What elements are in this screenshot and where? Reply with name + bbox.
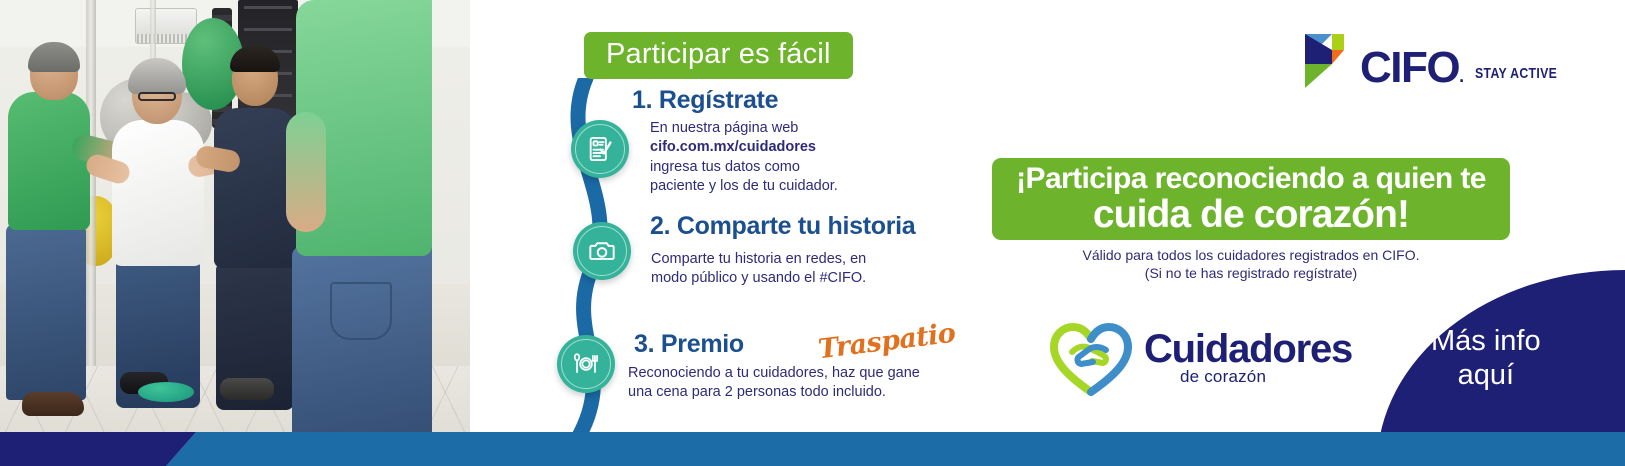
step-1-title-text: Regístrate <box>659 86 778 114</box>
traspatio-sponsor-logo: Traspatio <box>817 318 957 366</box>
step-2-body-line2: modo público y usando el #CIFO. <box>651 269 866 288</box>
cifo-pinwheel-icon <box>1292 30 1348 88</box>
patient-left-pants <box>6 224 86 400</box>
cifo-name: CIFO <box>1360 43 1459 92</box>
fineprint-line1: Válido para todos los cuidadores registr… <box>992 246 1510 264</box>
step-2-body: Comparte tu historia en redes, en modo p… <box>651 250 866 289</box>
step-3-title-text: Premio <box>661 330 744 358</box>
section-header-pill: Participar es fácil <box>584 32 853 79</box>
cifo-logo: CIFO. STAY ACTIVE <box>1292 30 1575 88</box>
cta-line2: aquí <box>1431 358 1541 392</box>
step-3-body-line2: una cena para 2 personas todo incluido. <box>628 383 920 402</box>
patient-center-hair <box>128 58 186 94</box>
step-2-body-line1: Comparte tu historia en redes, en <box>651 250 866 269</box>
form-check-icon <box>586 135 614 163</box>
photo-panel <box>0 0 470 466</box>
step-3-icon-circle <box>557 335 615 393</box>
step-1-icon-circle <box>571 120 629 178</box>
fineprint-line2: (Si no te has registrado regístrate) <box>992 264 1510 282</box>
promo-headline-line2: cuida de corazón! <box>1093 195 1409 235</box>
promo-fineprint: Válido para todos los cuidadores registr… <box>992 246 1510 283</box>
step-3-body: Reconociendo a tu cuidadores, haz que ga… <box>628 364 920 403</box>
cifo-tagline: STAY ACTIVE <box>1475 65 1557 82</box>
promotional-banner: Participar es fácil 1. Regístrate En nue… <box>0 0 1625 466</box>
step-1-body-line4: paciente y los de tu cuidador. <box>650 177 838 196</box>
patient-left-hair <box>28 42 80 72</box>
cuidadores-logo: Cuidadores de corazón <box>1048 322 1352 396</box>
cifo-wordmark: CIFO. <box>1360 48 1463 88</box>
cifo-trademark: . <box>1459 66 1463 86</box>
cta-line1: Más info <box>1431 324 1541 358</box>
cuidadores-sub-text: de corazón <box>1180 367 1352 387</box>
heart-hands-icon <box>1048 322 1134 396</box>
step-2-title-text: Comparte tu historia <box>677 212 915 240</box>
step-1-url[interactable]: cifo.com.mx/cuidadores <box>650 139 816 155</box>
step-1-number: 1. <box>632 86 652 114</box>
cuidadores-main-text: Cuidadores <box>1144 331 1352 368</box>
step-1-body: En nuestra página web cifo.com.mx/cuidad… <box>650 119 838 196</box>
step-2-icon-circle <box>573 222 631 280</box>
step-1-title: 1. Regístrate <box>632 86 778 115</box>
camera-icon <box>588 237 616 265</box>
step-3-number: 3. <box>634 330 654 358</box>
cutlery-plate-icon <box>572 350 600 378</box>
more-info-cta-text: Más info aquí <box>1431 324 1541 392</box>
step-2-number: 2. <box>650 212 670 240</box>
cuidadores-wordmark: Cuidadores de corazón <box>1144 331 1352 388</box>
step-3-body-line1: Reconociendo a tu cuidadores, haz que ga… <box>628 364 920 383</box>
promo-headline-line1: ¡Participa reconociendo a quien te <box>1016 163 1486 195</box>
step-1-body-line1: En nuestra página web <box>650 119 838 138</box>
patient-left-shirt <box>8 92 90 230</box>
step-3-title: 3. Premio <box>634 330 744 359</box>
patient-left-shoe <box>22 392 84 416</box>
step-1-body-line3: ingresa tus datos como <box>650 158 838 177</box>
promo-headline-banner: ¡Participa reconociendo a quien te cuida… <box>992 158 1510 240</box>
bottom-blue-bar <box>0 432 1625 466</box>
step-2-title: 2. Comparte tu historia <box>650 212 915 241</box>
patient-center-glasses <box>138 92 176 101</box>
